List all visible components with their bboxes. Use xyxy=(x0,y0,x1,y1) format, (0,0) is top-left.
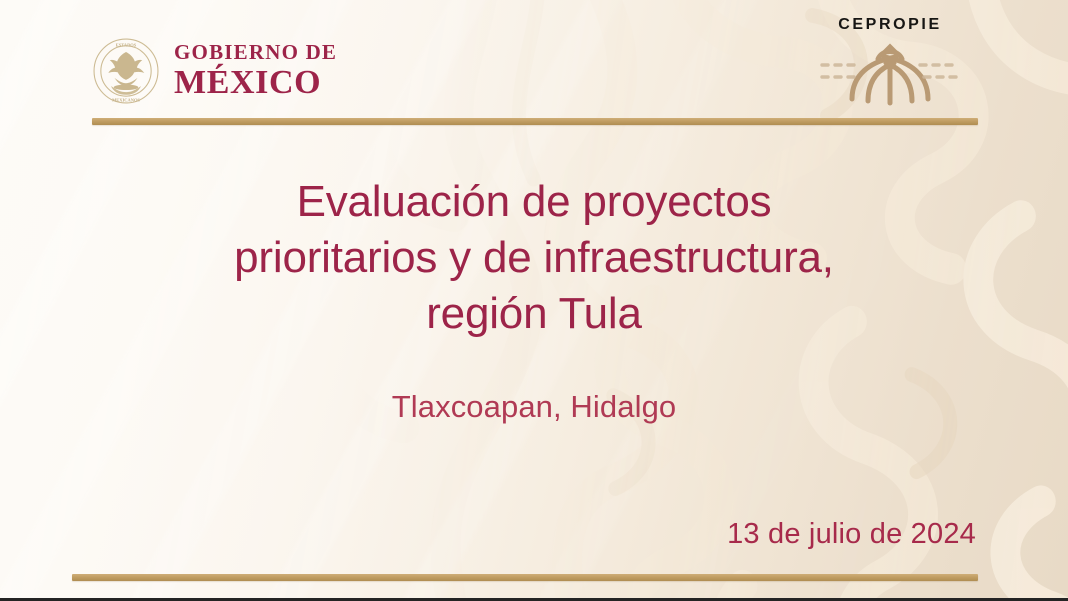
svg-text:ESTADOS: ESTADOS xyxy=(116,43,137,48)
title-line-1: Evaluación de proyectos xyxy=(96,174,972,230)
gobierno-line1: GOBIERNO DE xyxy=(174,42,337,63)
gobierno-de-mexico-logo: ESTADOS MEXICANOS GOBIERNO DE MÉXICO xyxy=(92,37,337,105)
gobierno-wordmark: GOBIERNO DE MÉXICO xyxy=(174,42,337,100)
cepropie-wordmark: CEPROPIE xyxy=(838,16,942,34)
page-title: Evaluación de proyectos prioritarios y d… xyxy=(96,174,972,342)
cepropie-fan-mark-icon xyxy=(816,41,964,107)
top-gold-divider xyxy=(92,118,978,125)
date-label: 13 de julio de 2024 xyxy=(727,518,976,551)
gobierno-line2: MÉXICO xyxy=(174,66,337,100)
title-slide: ESTADOS MEXICANOS GOBIERNO DE MÉXICO CEP… xyxy=(0,0,1068,601)
title-line-3: región Tula xyxy=(96,286,972,342)
title-line-2: prioritarios y de infraestructura, xyxy=(96,230,972,286)
bottom-gold-divider xyxy=(72,574,978,581)
escudo-nacional-icon: ESTADOS MEXICANOS xyxy=(92,37,160,105)
cepropie-logo: CEPROPIE xyxy=(795,0,985,112)
location-subtitle: Tlaxcoapan, Hidalgo xyxy=(96,389,972,425)
svg-text:MEXICANOS: MEXICANOS xyxy=(112,98,140,103)
